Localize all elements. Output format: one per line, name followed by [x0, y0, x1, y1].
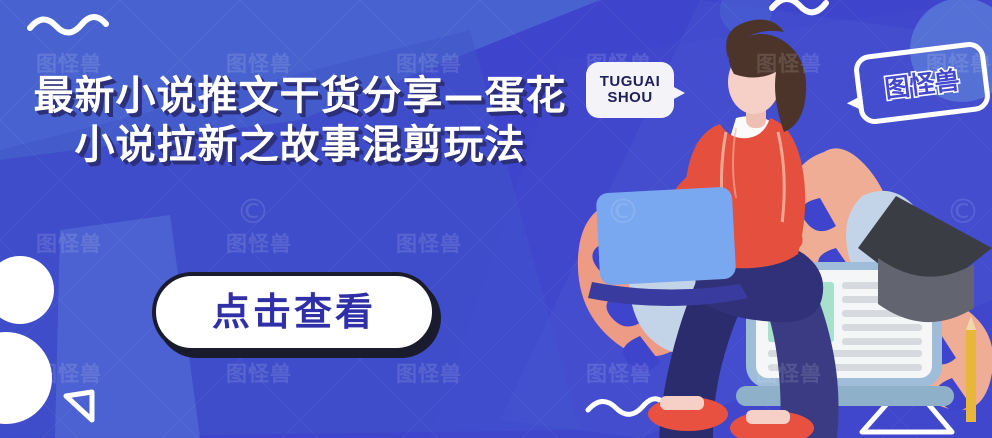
promo-banner: 图怪兽图怪兽图怪兽图怪兽图怪兽图怪兽图怪兽图怪兽图怪兽图怪兽图怪兽图怪兽图怪兽图…	[0, 0, 992, 438]
cta-label: 点击查看	[212, 293, 376, 331]
page-title: 最新小说推文干货分享—蛋花小说拉新之故事混剪玩法	[30, 72, 570, 170]
bubble-tail-icon	[846, 95, 864, 113]
tuguaishou-logo-label: 图怪兽	[883, 61, 962, 106]
click-to-view-button[interactable]: 点击查看	[152, 272, 436, 352]
pencil	[966, 316, 976, 422]
tuguai-shou-line1: TUGUAI	[600, 74, 661, 90]
illustration-woman-with-laptop	[0, 0, 992, 438]
tuguai-shou-badge: TUGUAI SHOU	[586, 62, 674, 118]
tuguai-shou-line2: SHOU	[607, 90, 652, 106]
